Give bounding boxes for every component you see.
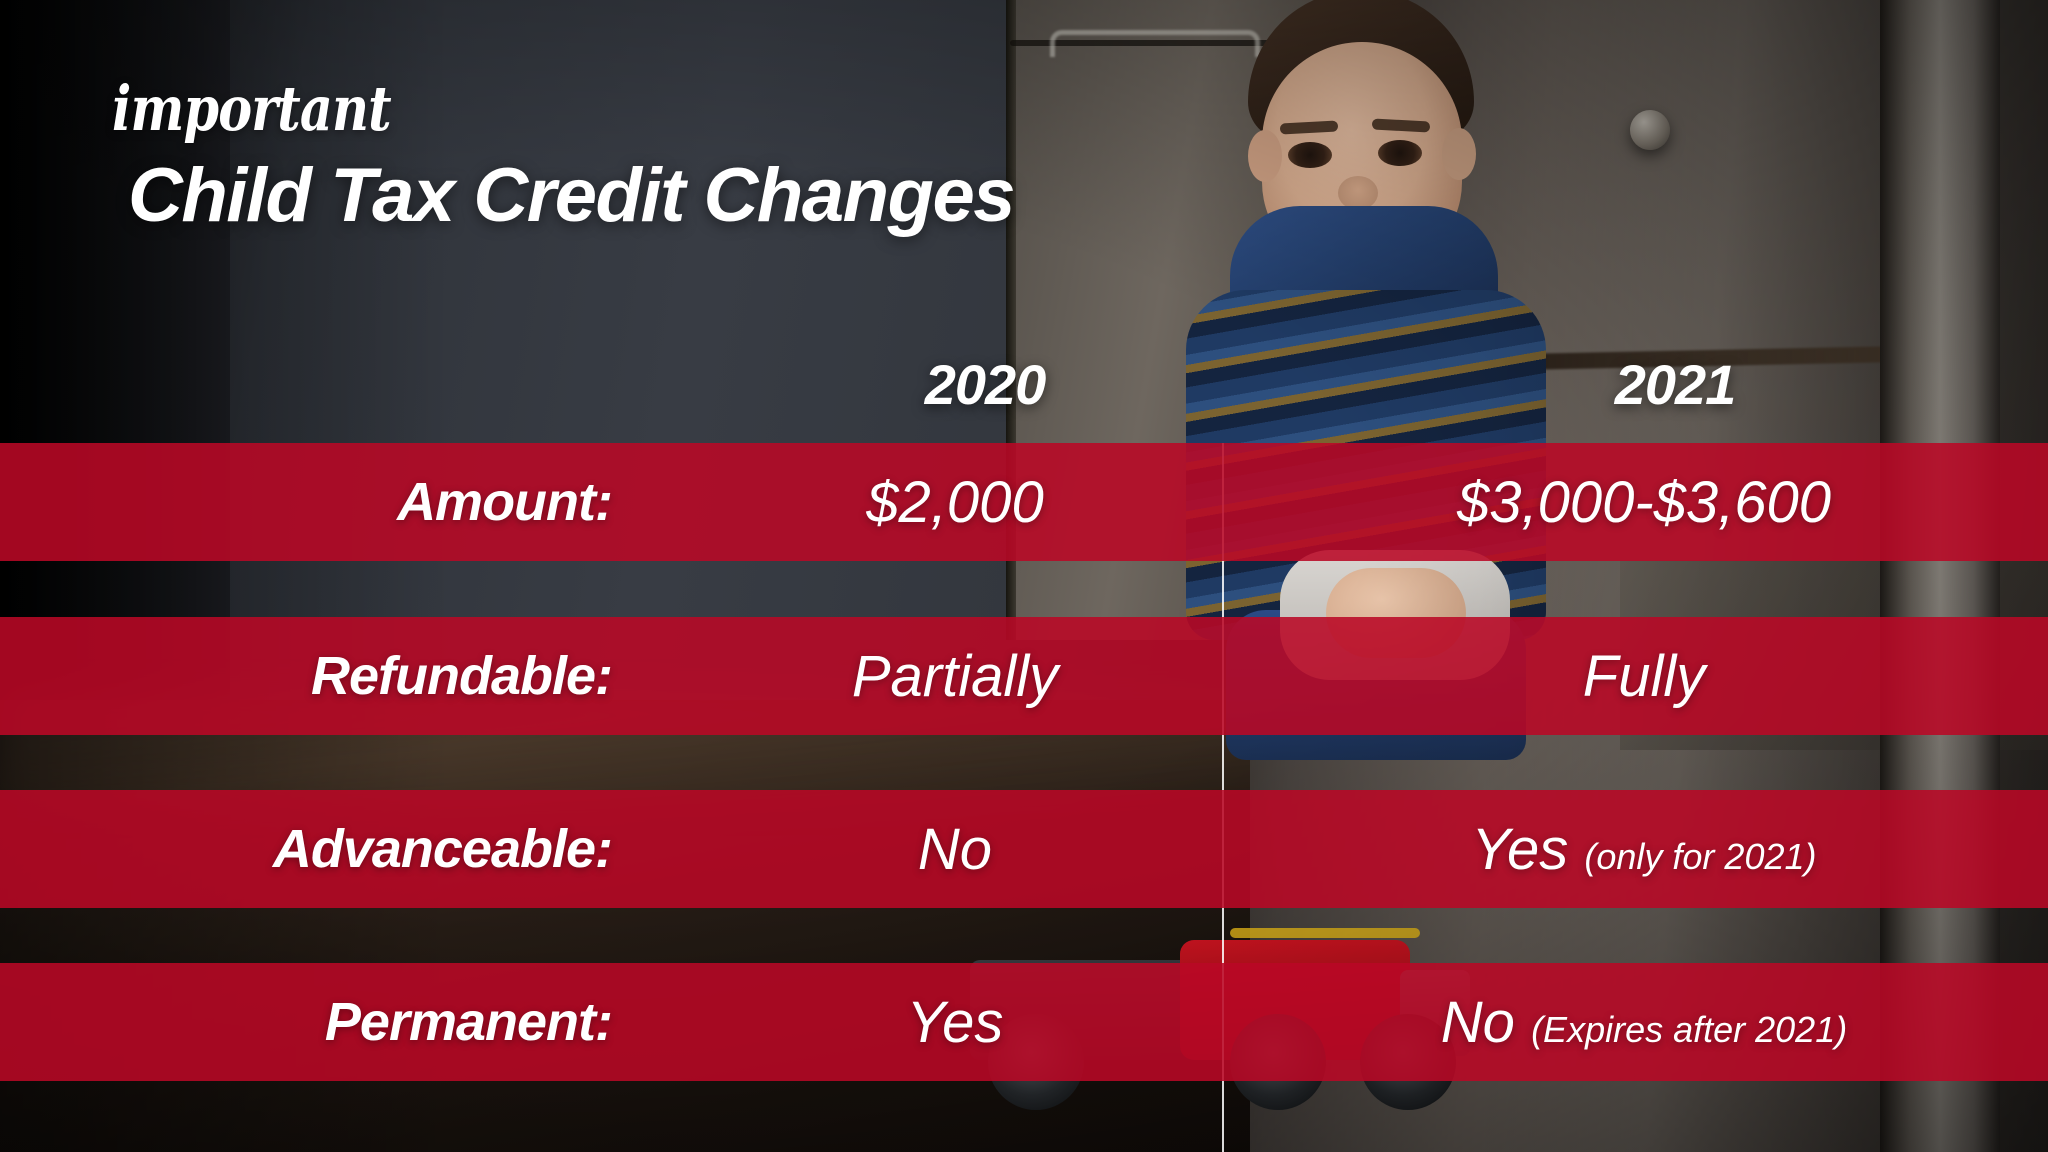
cell-advanceable-2021-value: Yes bbox=[1472, 817, 1569, 882]
row-label-amount: Amount: bbox=[0, 471, 612, 533]
cell-refundable-2021: Fully bbox=[1240, 643, 2048, 710]
cell-amount-2020: $2,000 bbox=[705, 469, 1205, 536]
table-row: Amount: $2,000 $3,000-$3,600 bbox=[0, 443, 2048, 561]
infographic-canvas: important Child Tax Credit Changes 2020 … bbox=[0, 0, 2048, 1152]
cell-permanent-2020: Yes bbox=[705, 989, 1205, 1056]
cell-amount-2021: $3,000-$3,600 bbox=[1240, 469, 2048, 536]
column-header-2021: 2021 bbox=[1500, 352, 1850, 417]
column-header-2020: 2020 bbox=[835, 352, 1135, 417]
table-row: Refundable: Partially Fully bbox=[0, 617, 2048, 735]
table-row: Permanent: Yes No (Expires after 2021) bbox=[0, 963, 2048, 1081]
cell-advanceable-2020: No bbox=[705, 816, 1205, 883]
cell-refundable-2020: Partially bbox=[705, 643, 1205, 710]
cell-refundable-2021-value: Fully bbox=[1583, 644, 1705, 709]
eyebrow-text: important bbox=[112, 78, 391, 140]
page-title: Child Tax Credit Changes bbox=[128, 158, 1014, 234]
row-label-permanent: Permanent: bbox=[0, 991, 612, 1053]
cell-amount-2021-value: $3,000-$3,600 bbox=[1457, 470, 1831, 535]
content-overlay: important Child Tax Credit Changes 2020 … bbox=[0, 0, 2048, 1152]
cell-permanent-2021-note: (Expires after 2021) bbox=[1531, 1009, 1847, 1050]
cell-advanceable-2021: Yes (only for 2021) bbox=[1240, 816, 2048, 883]
table-row: Advanceable: No Yes (only for 2021) bbox=[0, 790, 2048, 908]
cell-permanent-2021-value: No bbox=[1441, 990, 1515, 1055]
row-label-refundable: Refundable: bbox=[0, 645, 612, 707]
cell-advanceable-2021-note: (only for 2021) bbox=[1584, 836, 1816, 877]
cell-permanent-2021: No (Expires after 2021) bbox=[1240, 989, 2048, 1056]
row-label-advanceable: Advanceable: bbox=[0, 818, 612, 880]
